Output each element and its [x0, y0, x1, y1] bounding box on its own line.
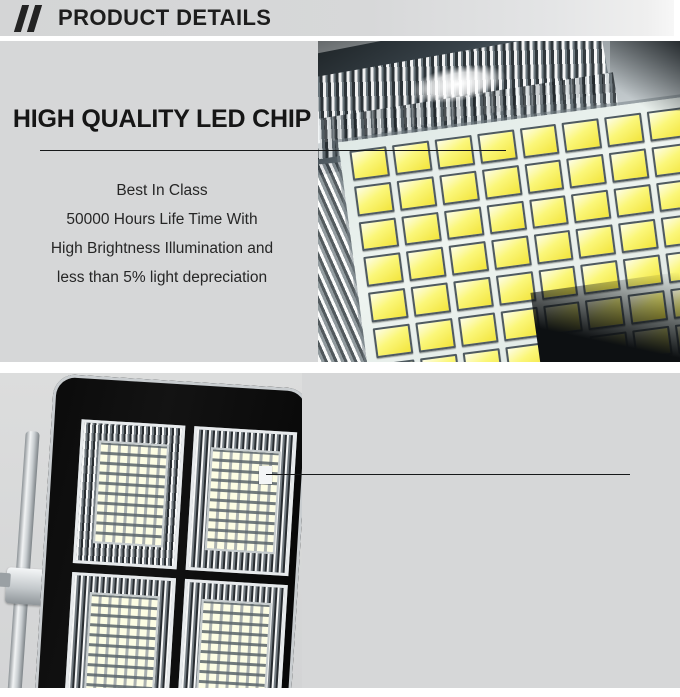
- led-chip-text-block: HIGH QUALITY LED CHIP Best In Class 5000…: [12, 105, 312, 292]
- feature-body-led-chip: Best In Class 50000 Hours Life Time With…: [12, 176, 312, 292]
- product-details-page: PRODUCT DETAILS: [0, 0, 680, 697]
- reflector-cell: [176, 578, 288, 688]
- section-header-bar: PRODUCT DETAILS: [0, 0, 674, 36]
- diamond-reflector-panel-grid: [63, 419, 297, 688]
- body-line: Best In Class: [12, 176, 312, 205]
- led-corner-shadow-right: [610, 41, 680, 111]
- led-chip-closeup-photo: [318, 41, 680, 362]
- solar-street-light-photo: [0, 373, 302, 688]
- body-line: less than 5% light depreciation: [12, 263, 312, 292]
- body-line: High Brightness Illumination and: [12, 234, 312, 263]
- street-light-lamp-body: [34, 373, 302, 688]
- feature-title-led-chip: HIGH QUALITY LED CHIP: [12, 105, 312, 134]
- reflector-cell: [73, 419, 185, 569]
- body-line: 50000 Hours Life Time With: [12, 205, 312, 234]
- feature-panel-led-chip: HIGH QUALITY LED CHIP Best In Class 5000…: [0, 41, 680, 362]
- leader-line-diamond-reflector: [266, 474, 630, 475]
- reflector-cell: [63, 571, 175, 688]
- street-light-pole: [6, 431, 39, 688]
- double-slash-icon: [14, 3, 48, 33]
- feature-panel-diamond-reflector: DIAMOND REFLECTOR Diamond Reflector made…: [0, 373, 680, 688]
- reflector-callout-tab: [259, 466, 272, 484]
- leader-line-led-chip: [40, 150, 506, 151]
- page-title: PRODUCT DETAILS: [58, 7, 271, 29]
- reflector-cell: [185, 426, 297, 576]
